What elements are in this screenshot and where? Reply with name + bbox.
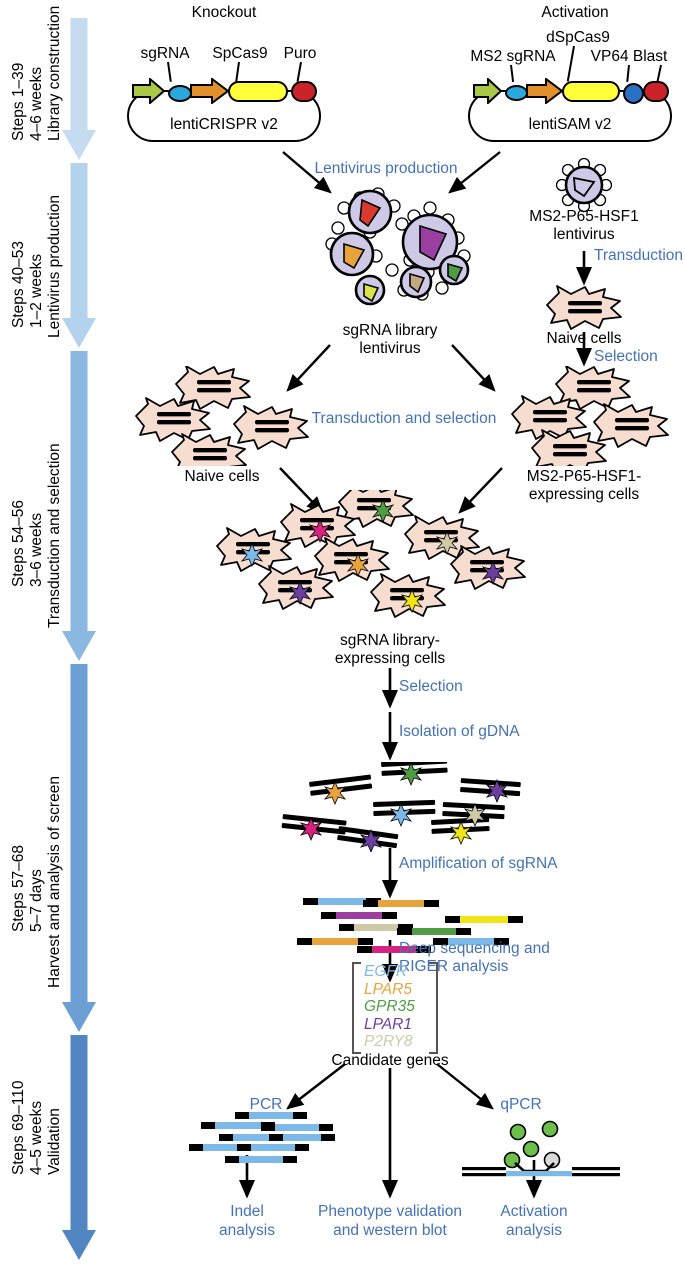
label-candidate-genes: Candidate genes	[331, 1052, 448, 1069]
phase-arrow-5	[62, 1035, 96, 1260]
outcome-phenotype-validation-line1: Phenotype validation	[318, 1203, 462, 1220]
label-helper-expressing-cells-line1: MS2-P65-HSF1-	[527, 468, 642, 485]
branch-header-activation: Activation	[541, 4, 608, 21]
label-ms2-sgrna: MS2 sgRNA	[470, 48, 555, 65]
gdna-fragments	[275, 762, 545, 852]
stage-1-steps: Steps 1–39	[10, 63, 28, 141]
label-vp64: VP64	[591, 48, 629, 65]
feature-spcas9	[228, 81, 288, 102]
outcome-phenotype-validation-line2: and western blot	[333, 1222, 447, 1239]
gene-bracket-left	[352, 962, 361, 1054]
plasmid-activation-features	[468, 78, 672, 104]
gene-lpar1: LPAR1	[364, 1016, 415, 1034]
workflow-figure: Steps 1–39 4–6 weeks Library constructio…	[0, 0, 685, 1269]
stage-4-steps: Steps 57–68	[10, 845, 28, 932]
cell-cluster-helper-expressing	[510, 366, 680, 466]
step-selection-2: Selection	[399, 678, 463, 695]
stage-3-name: Transduction and selection	[46, 443, 64, 628]
leader-dspcas9	[567, 46, 575, 82]
phase-arrow-3-shaft	[71, 351, 88, 631]
phase-arrow-1-head	[62, 130, 96, 160]
label-library-expressing-cells-line1: sgRNA library-	[340, 632, 440, 649]
phase-arrow-4-head	[62, 1002, 96, 1032]
phase-arrow-1-shaft	[71, 18, 88, 130]
plasmid-knockout-features	[127, 78, 321, 104]
label-puro: Puro	[284, 45, 317, 62]
stage-4-duration: 5–7 days	[28, 869, 46, 932]
stage-5-name: Validation	[46, 1108, 64, 1175]
step-transduction-and-selection: Transduction and selection	[312, 410, 497, 427]
gene-bracket-right	[429, 962, 438, 1054]
phase-arrow-2-head	[62, 318, 96, 348]
label-sgrna: sgRNA	[140, 45, 189, 62]
qpcr-probe-assay	[458, 1108, 633, 1178]
stage-1-name: Library construction	[46, 6, 64, 141]
label-helper-lentivirus-line2: lentivirus	[553, 226, 614, 243]
label-sgrna-library-lentivirus-line2: lentivirus	[359, 340, 420, 357]
label-naive-cells-right: Naive cells	[547, 330, 622, 347]
feature-blast	[643, 81, 669, 102]
cell-naive-right	[541, 283, 627, 333]
promoter-orange-arrow	[190, 78, 230, 104]
label-vp64-blast: VP64 Blast	[591, 48, 668, 65]
label-helper-lentivirus-line1: MS2-P65-HSF1	[529, 208, 638, 225]
outcome-activation-analysis-line2: analysis	[506, 1222, 562, 1239]
outcome-activation-analysis-line1: Activation	[500, 1203, 567, 1220]
step-lentivirus-production: Lentivirus production	[314, 160, 457, 177]
promoter-green-arrow-2	[473, 78, 503, 104]
step-transduction: Transduction	[594, 247, 683, 264]
stage-3-steps: Steps 54–56	[10, 500, 28, 587]
promoter-green-arrow	[132, 78, 166, 104]
feature-vp64-circle	[623, 83, 644, 104]
cell-cluster-naive-left	[130, 366, 320, 466]
step-selection-right: Selection	[594, 348, 658, 365]
phase-arrow-4	[62, 664, 96, 1032]
gene-list: EGFR LPAR5 GPR35 LPAR1 P2RY8	[364, 963, 415, 1051]
stage-4-name: Harvest and analysis of screen	[46, 776, 64, 988]
candidate-gene-box: EGFR LPAR5 GPR35 LPAR1 P2RY8	[352, 962, 438, 1054]
gene-lpar5: LPAR5	[364, 981, 415, 999]
pcr-amplicons	[175, 1110, 335, 1170]
phase-arrow-2	[62, 163, 96, 348]
plasmid-activation-name: lentiSAM v2	[470, 116, 670, 134]
feature-ms2-sgrna-oval	[505, 85, 528, 101]
branch-header-knockout: Knockout	[192, 4, 257, 21]
cell-pool-library-expressing	[195, 490, 575, 630]
stage-1-duration: 4–6 weeks	[28, 67, 46, 141]
stage-3-duration: 3–6 weeks	[28, 513, 46, 587]
plasmid-knockout-name: lentiCRISPR v2	[129, 116, 319, 134]
feature-puro	[291, 81, 317, 102]
label-sgrna-library-lentivirus-line1: sgRNA library	[343, 322, 438, 339]
phase-arrow-5-shaft	[71, 1035, 88, 1230]
virus-ms2-p65-hsf1	[556, 158, 612, 212]
phase-arrow-5-head	[62, 1230, 96, 1260]
virus-cluster-sgrna-library	[318, 186, 478, 326]
stage-2-steps: Steps 40–53	[10, 241, 28, 328]
stage-5-duration: 4–5 weeks	[28, 1101, 46, 1175]
feature-dspcas9	[562, 81, 620, 102]
phase-arrow-3	[62, 351, 96, 661]
phase-arrow-1	[62, 18, 96, 160]
label-spcas9: SpCas9	[212, 45, 267, 62]
stage-5-steps: Steps 69–110	[10, 1080, 28, 1175]
step-deep-sequencing-line1: Deep sequencing and	[399, 940, 550, 957]
step-isolation-gdna: Isolation of gDNA	[399, 723, 520, 740]
feature-sgrna-oval	[168, 85, 192, 102]
gene-egfr: EGFR	[364, 963, 415, 981]
phase-arrow-3-head	[62, 631, 96, 661]
outcome-indel-analysis-line2: analysis	[219, 1222, 275, 1239]
step-amplification: Amplification of sgRNA	[399, 855, 558, 872]
label-library-expressing-cells-line2: expressing cells	[335, 650, 445, 667]
label-blast: Blast	[633, 48, 667, 65]
gene-p2ry8: P2RY8	[364, 1033, 415, 1051]
stage-2-duration: 1–2 weeks	[28, 254, 46, 328]
promoter-orange-arrow-2	[526, 78, 564, 104]
gene-gpr35: GPR35	[364, 998, 415, 1016]
phase-arrow-4-shaft	[71, 664, 88, 1002]
label-naive-cells-left: Naive cells	[185, 468, 260, 485]
stage-2-name: Lentivirus production	[46, 195, 64, 338]
label-dspcas9: dSpCas9	[546, 29, 610, 46]
outcome-indel-analysis-line1: Indel	[230, 1203, 264, 1220]
phase-arrow-2-shaft	[71, 163, 88, 318]
